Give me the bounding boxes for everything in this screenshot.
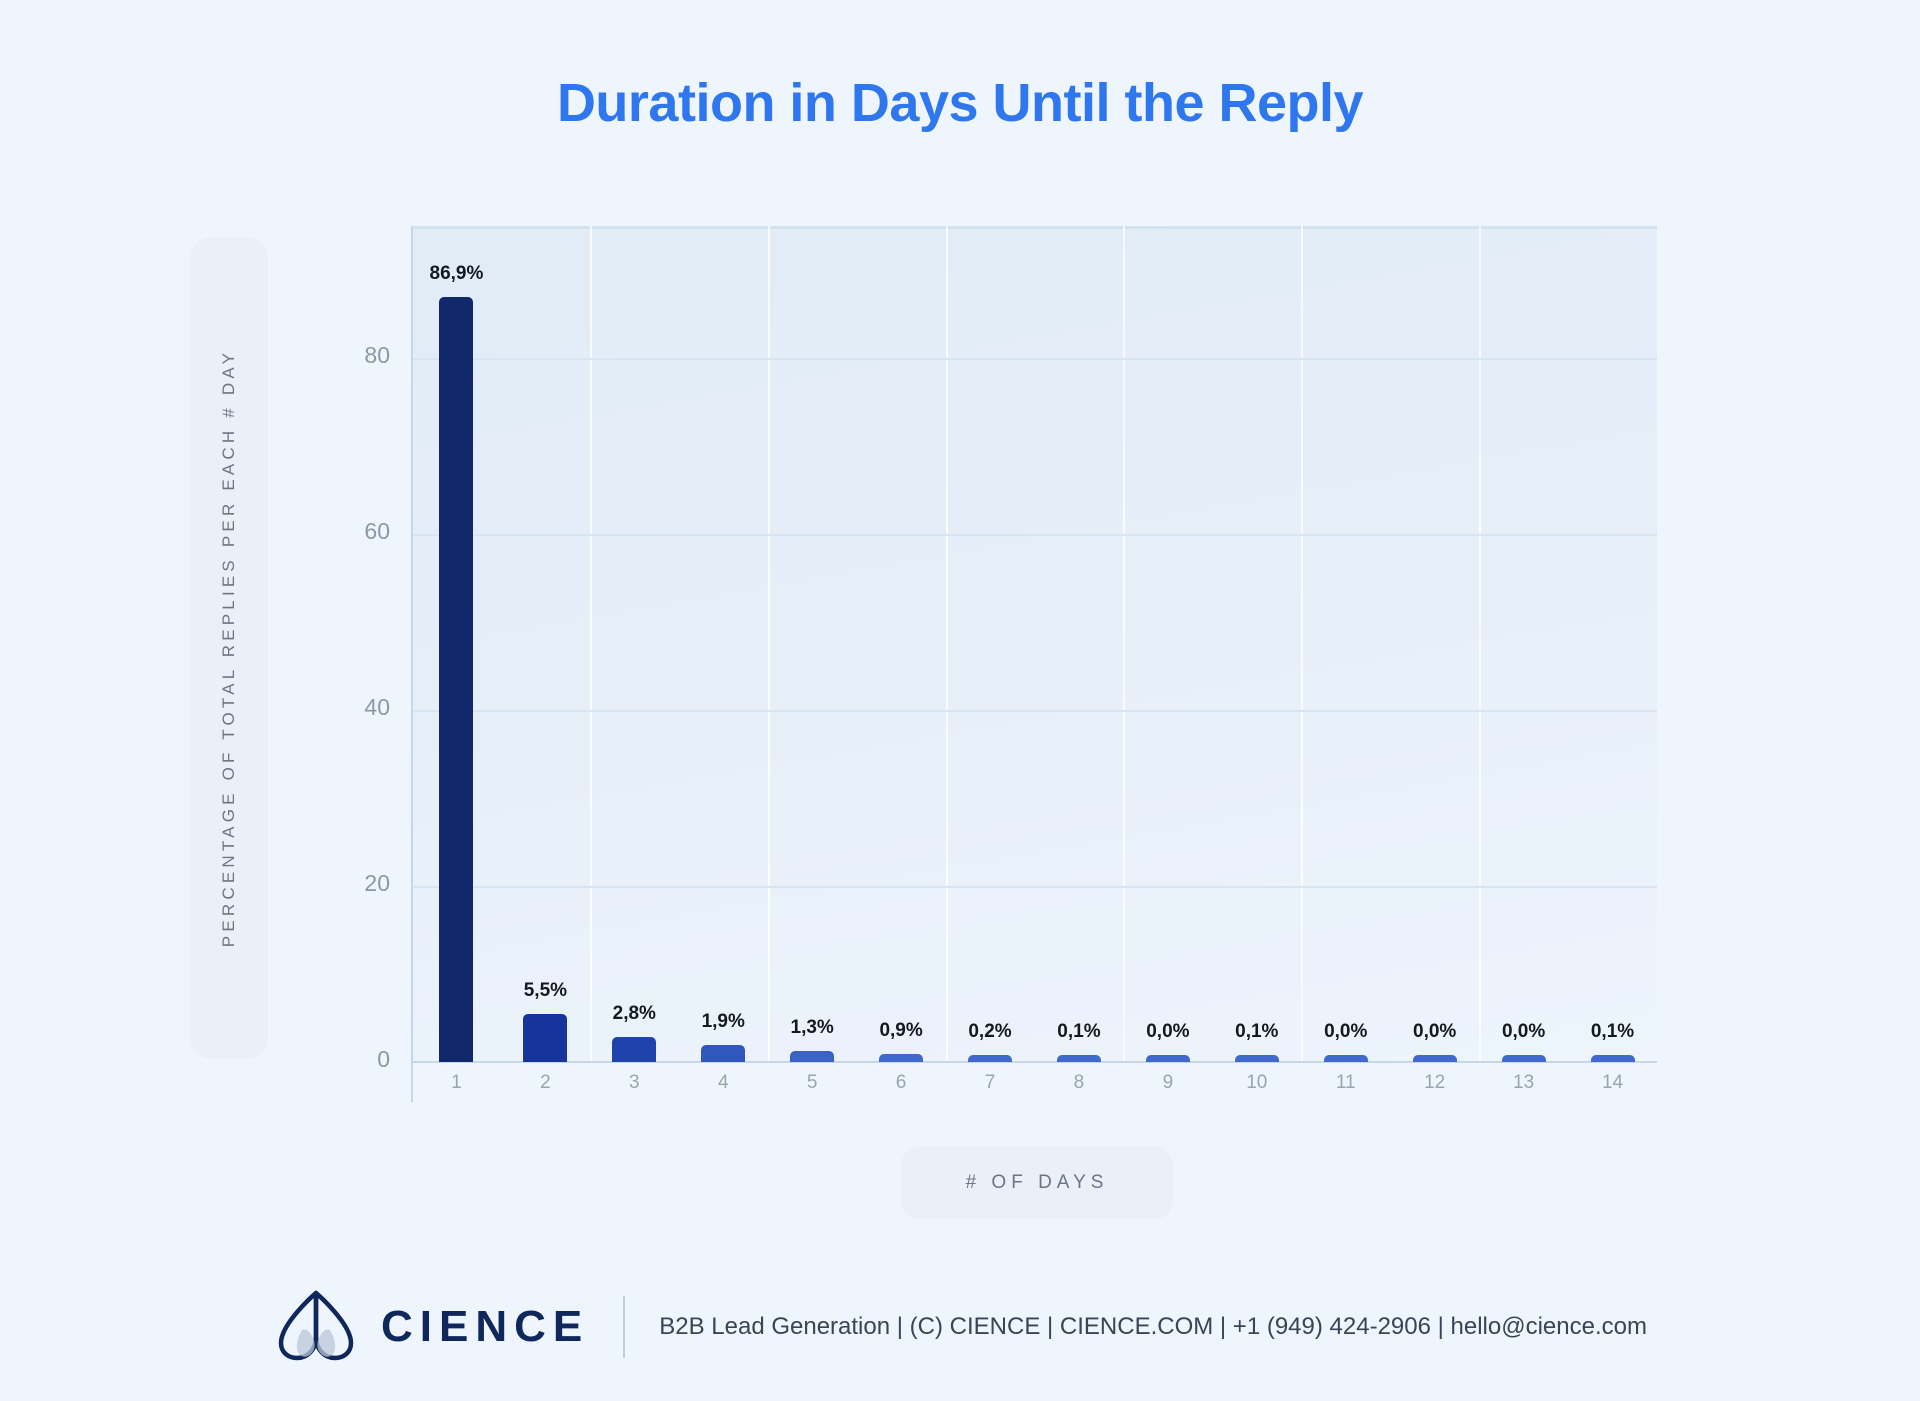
footer: CIENCE B2B Lead Generation | (C) CIENCE …: [0, 1272, 1920, 1382]
bar-value-label: 1,3%: [791, 1017, 834, 1039]
bar-slot: 0,0%: [1301, 226, 1390, 1062]
bar-value-label: 0,1%: [1235, 1021, 1278, 1043]
x-tick-label: 13: [1513, 1072, 1534, 1094]
x-axis-label: # OF DAYS: [901, 1147, 1173, 1219]
bar[interactable]: [1057, 1055, 1101, 1062]
bar[interactable]: [1502, 1055, 1546, 1062]
x-tick-label: 6: [896, 1072, 907, 1094]
x-tick-label: 1: [451, 1072, 462, 1094]
bar[interactable]: [612, 1037, 656, 1062]
bar-value-label: 5,5%: [524, 980, 567, 1002]
bar-value-label: 0,0%: [1146, 1021, 1189, 1043]
bar-slot: 0,9%: [857, 226, 946, 1062]
bar-slot: 0,0%: [1123, 226, 1212, 1062]
bar-slot: 0,1%: [1035, 226, 1124, 1062]
brand: CIENCE: [273, 1289, 589, 1366]
bar-value-label: 2,8%: [613, 1003, 656, 1025]
x-tick-label: 14: [1602, 1072, 1623, 1094]
bar-value-label: 0,9%: [879, 1020, 922, 1042]
bar[interactable]: [1413, 1055, 1457, 1062]
bar[interactable]: [523, 1014, 567, 1062]
bar-slot: 2,8%: [590, 226, 679, 1062]
x-tick-label: 3: [629, 1072, 640, 1094]
x-tick-label: 7: [985, 1072, 996, 1094]
bar-slot: 5,5%: [501, 226, 590, 1062]
brand-name: CIENCE: [381, 1302, 589, 1352]
bar[interactable]: [1146, 1055, 1190, 1062]
bar[interactable]: [1235, 1055, 1279, 1062]
bar-value-label: 0,0%: [1324, 1021, 1367, 1043]
bar-slot: 0,1%: [1212, 226, 1301, 1062]
bar-slot: 0,0%: [1390, 226, 1479, 1062]
bar[interactable]: [1591, 1055, 1635, 1062]
bar[interactable]: [879, 1054, 923, 1062]
bar-slot: 0,2%: [946, 226, 1035, 1062]
bar-slot: 1,3%: [768, 226, 857, 1062]
footer-tagline: B2B Lead Generation | (C) CIENCE | CIENC…: [659, 1313, 1647, 1341]
bar-series: 86,9%5,5%2,8%1,9%1,3%0,9%0,2%0,1%0,0%0,1…: [412, 226, 1657, 1062]
bar[interactable]: [968, 1055, 1012, 1062]
bar-value-label: 0,2%: [968, 1021, 1011, 1043]
bar-slot: 86,9%: [412, 226, 501, 1062]
bar-value-label: 0,0%: [1502, 1021, 1545, 1043]
y-tick-label: 60: [320, 518, 390, 545]
bar-value-label: 0,1%: [1057, 1021, 1100, 1043]
x-tick-label: 10: [1246, 1072, 1267, 1094]
bar-value-label: 1,9%: [702, 1011, 745, 1033]
x-tick-label: 9: [1163, 1072, 1174, 1094]
bar-value-label: 86,9%: [430, 263, 484, 285]
bar[interactable]: [1324, 1055, 1368, 1062]
bar-value-label: 0,1%: [1591, 1021, 1634, 1043]
bar-slot: 0,0%: [1479, 226, 1568, 1062]
y-axis-label: PERCENTAGE OF TOTAL REPLIES PER EACH # D…: [190, 237, 268, 1059]
x-tick-label: 8: [1074, 1072, 1085, 1094]
bar[interactable]: [790, 1051, 834, 1062]
y-tick-label: 40: [320, 694, 390, 721]
x-tick-label: 2: [540, 1072, 551, 1094]
y-tick-label: 80: [320, 342, 390, 369]
x-tick-label: 11: [1336, 1072, 1356, 1094]
bar-slot: 1,9%: [679, 226, 768, 1062]
page-title: Duration in Days Until the Reply: [0, 72, 1920, 134]
bar[interactable]: [701, 1045, 745, 1062]
y-tick-label: 0: [320, 1046, 390, 1073]
x-tick-label: 12: [1424, 1072, 1445, 1094]
x-tick-label: 4: [718, 1072, 729, 1094]
bar[interactable]: [439, 297, 473, 1062]
bar-value-label: 0,0%: [1413, 1021, 1456, 1043]
bar-slot: 0,1%: [1568, 226, 1657, 1062]
cience-logo-icon: [273, 1289, 359, 1366]
y-tick-label: 20: [320, 870, 390, 897]
footer-divider: [623, 1296, 625, 1358]
y-axis-tick-labels: 020406080: [300, 0, 390, 1401]
x-tick-label: 5: [807, 1072, 818, 1094]
